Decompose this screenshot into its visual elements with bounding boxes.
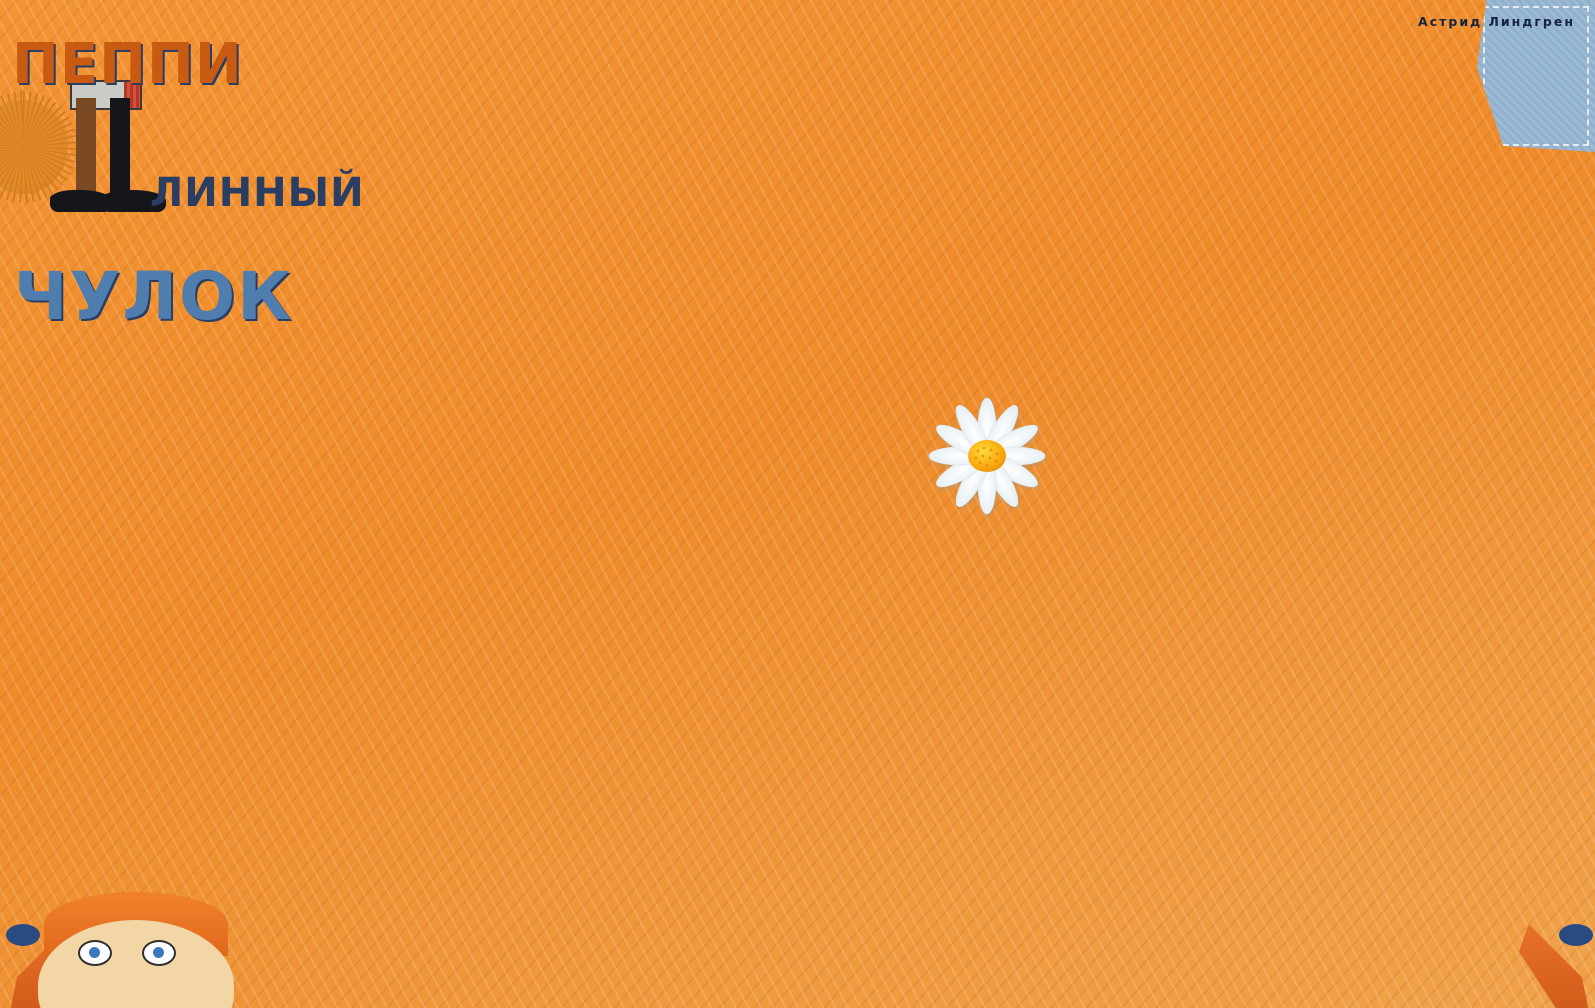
book-cover-pippi: Астрид Линдгрен ПЕППИ ЛИННЫЙ ЧУЛОК [0,0,277,436]
slide-canvas: «Манюня», Абгарян Н. «Манюня» — светлый,… [0,0,1595,1008]
cover-title-line-2: ЛИННЫЙ [150,170,277,216]
cover-title-line-1: ПЕППИ [12,32,270,94]
daisy-flower-icon [921,396,1053,528]
leg-stocking-black [110,98,130,196]
cover-title-line-3: ЧУЛОК [14,258,277,335]
leg-stocking-brown [76,98,96,196]
